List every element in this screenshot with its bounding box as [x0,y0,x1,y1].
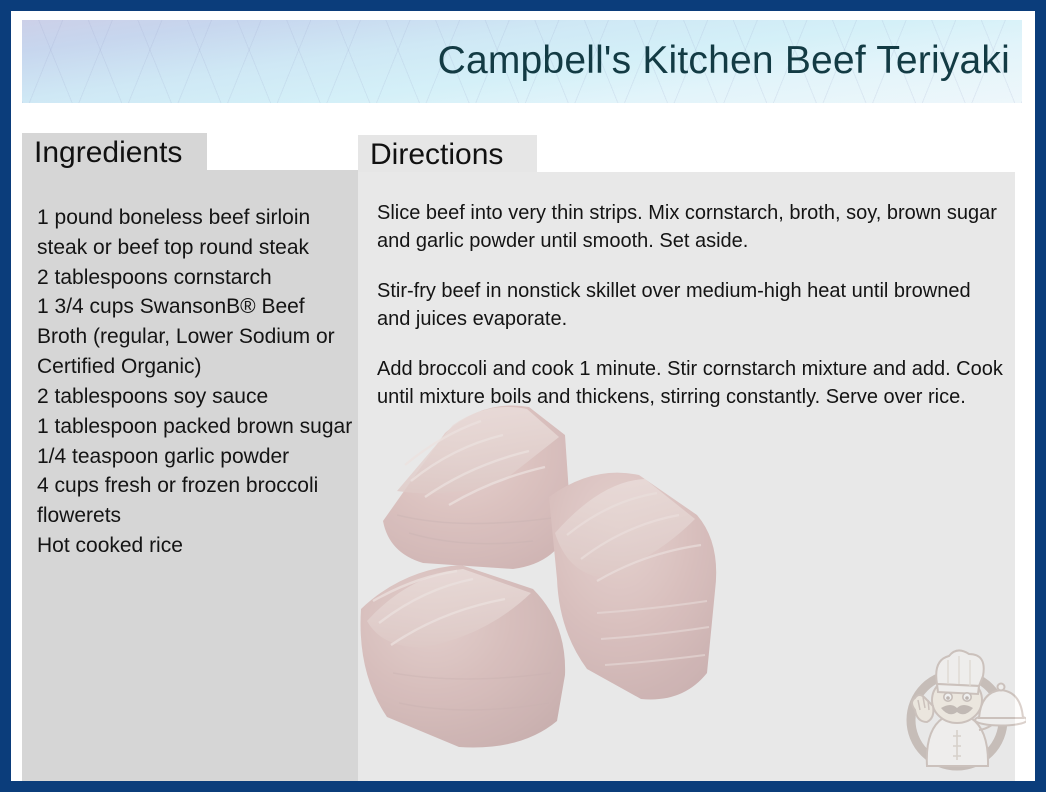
directions-steps: Slice beef into very thin strips. Mix co… [377,200,1003,412]
list-item: Hot cooked rice [37,531,354,561]
header-banner: Campbell's Kitchen Beef Teriyaki [22,20,1022,103]
list-item: 1 tablespoon packed brown sugar [37,412,354,442]
direction-step: Slice beef into very thin strips. Mix co… [377,200,1003,255]
ingredients-panel: 1 pound boneless beef sirloin steak or b… [22,170,360,783]
direction-step: Add broccoli and cook 1 minute. Stir cor… [377,356,1003,411]
chef-logo-icon [893,644,1026,772]
list-item: 1/4 teaspoon garlic powder [37,442,354,472]
list-item: 1 3/4 cups SwansonB® Beef Broth (regular… [37,292,354,381]
ingredients-list: 1 pound boneless beef sirloin steak or b… [37,203,354,561]
page-title: Campbell's Kitchen Beef Teriyaki [438,39,1010,83]
list-item: 1 pound boneless beef sirloin steak or b… [37,203,354,263]
list-item: 2 tablespoons soy sauce [37,382,354,412]
recipe-card: Campbell's Kitchen Beef Teriyaki Ingredi… [0,0,1046,792]
list-item: 4 cups fresh or frozen broccoli floweret… [37,471,354,531]
beef-photo [358,373,753,763]
list-item: 2 tablespoons cornstarch [37,263,354,293]
direction-step: Stir-fry beef in nonstick skillet over m… [377,278,1003,333]
